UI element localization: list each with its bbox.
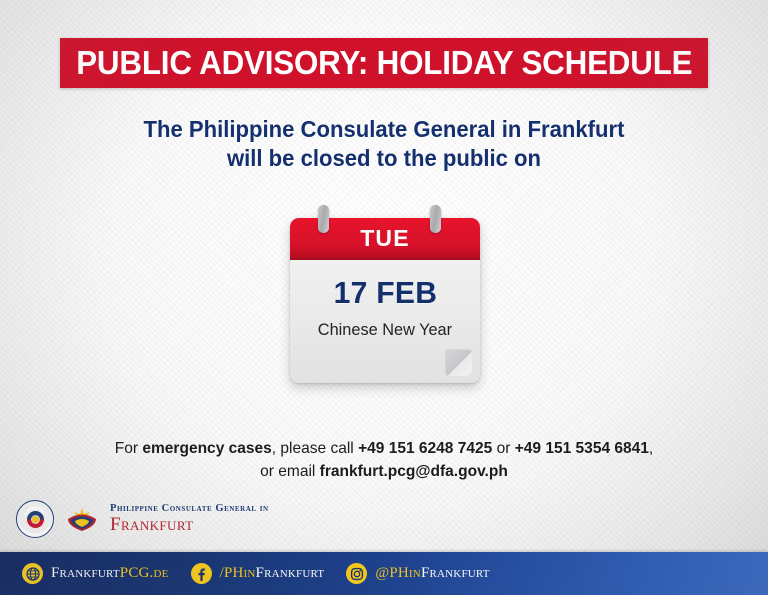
branding-line-1: Philippine Consulate General in bbox=[110, 504, 269, 515]
calendar-peg-left-icon bbox=[318, 205, 329, 233]
subtitle: The Philippine Consulate General in Fran… bbox=[15, 115, 752, 173]
branding-line-2: Frankfurt bbox=[110, 515, 269, 534]
calendar-page-fold-icon bbox=[446, 350, 472, 376]
globe-icon bbox=[22, 563, 43, 584]
calendar-occasion: Chinese New Year bbox=[318, 320, 452, 340]
philippine-sun-logo-icon bbox=[62, 500, 102, 538]
header-banner: PUBLIC ADVISORY: HOLIDAY SCHEDULE bbox=[60, 38, 708, 88]
facebook-handle-in: in bbox=[244, 565, 256, 581]
emergency-contact-note: For emergency cases, please call +49 151… bbox=[12, 437, 757, 483]
emergency-mid-2: or bbox=[492, 440, 514, 457]
instagram-handle-in: in bbox=[409, 565, 421, 581]
calendar-day-of-week: TUE bbox=[360, 225, 410, 252]
calendar-card: TUE 17 FEB Chinese New Year bbox=[290, 218, 480, 383]
website-label-name: Frankfurt bbox=[51, 565, 120, 581]
footer-instagram-link[interactable]: @PHinFrankfurt bbox=[346, 563, 489, 584]
emergency-mid-3: , bbox=[649, 440, 653, 457]
calendar-date: 17 FEB bbox=[333, 275, 437, 311]
emergency-line-2: or email frankfurt.pcg@dfa.gov.ph bbox=[12, 460, 757, 483]
footer-facebook-link[interactable]: /PHinFrankfurt bbox=[191, 563, 325, 584]
emergency-phone-1[interactable]: +49 151 6248 7425 bbox=[358, 440, 492, 457]
emergency-email-prefix: or email bbox=[260, 463, 320, 480]
calendar-peg-right-icon bbox=[430, 205, 441, 233]
subtitle-line-2: will be closed to the public on bbox=[15, 144, 752, 173]
facebook-handle-name: Frankfurt bbox=[256, 565, 325, 581]
emergency-line-1: For emergency cases, please call +49 151… bbox=[12, 437, 757, 460]
consulate-seal-icon bbox=[16, 500, 54, 538]
instagram-handle-prefix: @PH bbox=[375, 565, 409, 581]
instagram-handle-name: Frankfurt bbox=[421, 565, 490, 581]
emergency-mid-1: , please call bbox=[272, 440, 358, 457]
emergency-bold-label: emergency cases bbox=[142, 440, 271, 457]
emergency-email[interactable]: frankfurt.pcg@dfa.gov.ph bbox=[320, 463, 508, 480]
emergency-prefix: For bbox=[115, 440, 143, 457]
footer-website-link[interactable]: FrankfurtPCG.de bbox=[22, 563, 169, 584]
calendar-body: 17 FEB Chinese New Year bbox=[290, 260, 480, 383]
instagram-icon bbox=[346, 563, 367, 584]
website-label-domain: PCG.de bbox=[120, 565, 169, 581]
advisory-poster: PUBLIC ADVISORY: HOLIDAY SCHEDULE The Ph… bbox=[0, 0, 768, 595]
subtitle-line-1: The Philippine Consulate General in Fran… bbox=[15, 115, 752, 144]
branding: Philippine Consulate General in Frankfur… bbox=[16, 500, 269, 538]
page-title: PUBLIC ADVISORY: HOLIDAY SCHEDULE bbox=[76, 44, 692, 82]
emergency-phone-2[interactable]: +49 151 5354 6841 bbox=[515, 440, 649, 457]
facebook-icon bbox=[191, 563, 212, 584]
social-footer-bar: FrankfurtPCG.de /PHinFrankfurt @PHinFran… bbox=[0, 552, 768, 595]
facebook-handle-prefix: /PH bbox=[220, 565, 244, 581]
